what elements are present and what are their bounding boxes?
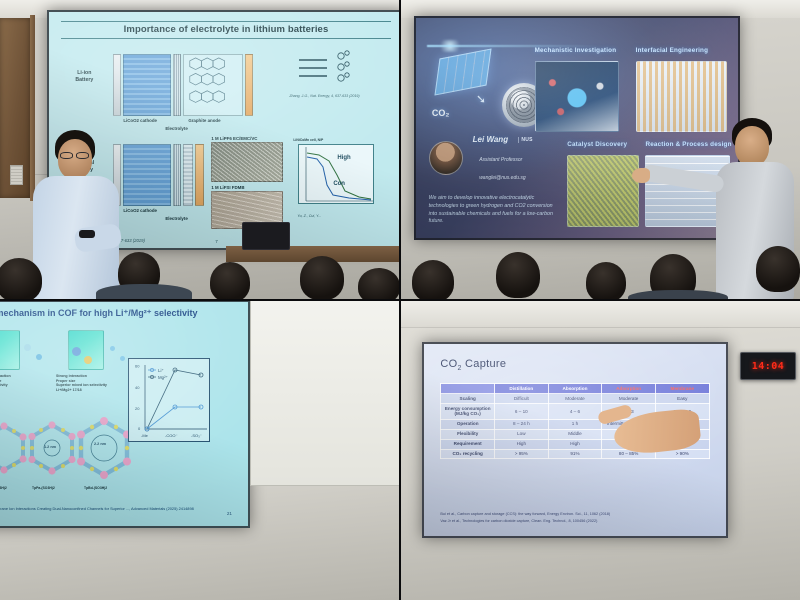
panel-bottom-left: ...mechanism in COF for high Li⁺/Mg²⁺ se… bbox=[0, 300, 400, 600]
presenter-1-head bbox=[58, 139, 92, 179]
presenter-1-clicker bbox=[79, 230, 95, 238]
presenter-2-hand bbox=[632, 168, 650, 183]
audience-head bbox=[0, 258, 42, 300]
monitor bbox=[242, 222, 290, 250]
wall-clock: 14:04 bbox=[740, 352, 796, 380]
audience-head bbox=[412, 260, 454, 300]
projection-screen-3: ...mechanism in COF for high Li⁺/Mg²⁺ se… bbox=[0, 300, 250, 528]
whiteboard bbox=[250, 300, 400, 486]
audience-head bbox=[358, 268, 400, 300]
audience-head bbox=[210, 262, 250, 300]
audience-head bbox=[300, 256, 344, 300]
panel-bottom-right: 14:04 CO2 Capture Distillation Absorptio… bbox=[400, 300, 800, 600]
presenter-1-glasses bbox=[60, 152, 73, 159]
panel-top-right: CO₂ ➘ ➚ Mechanistic Investigation Interf… bbox=[400, 0, 800, 300]
panel-top-left: Importance of electrolyte in lithium bat… bbox=[0, 0, 400, 300]
photo-collage: Importance of electrolyte in lithium bat… bbox=[0, 0, 800, 600]
audience-head bbox=[496, 252, 540, 298]
wall-vent bbox=[10, 165, 23, 185]
ceiling bbox=[400, 300, 800, 327]
audience-head bbox=[756, 246, 800, 292]
presenter-2-head bbox=[735, 126, 769, 166]
audience-head bbox=[586, 262, 626, 300]
audience-shoulder bbox=[96, 284, 192, 300]
presenter-1-glasses-right bbox=[76, 152, 89, 159]
panel-divider-horizontal bbox=[0, 299, 800, 301]
